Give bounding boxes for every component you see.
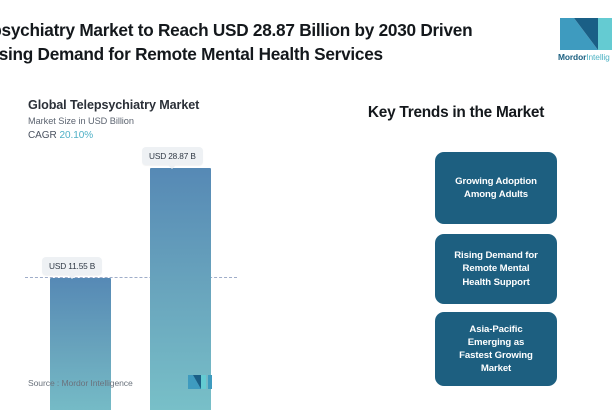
- trend-card-line: Growing Adoption: [455, 175, 537, 188]
- trends-heading: Key Trends in the Market: [326, 104, 586, 122]
- chart-panel: Global Telepsychiatry Market Market Size…: [0, 90, 300, 410]
- trend-card-line: Market: [459, 362, 533, 375]
- trend-card-asia-pacific[interactable]: Asia-Pacific Emerging as Fastest Growing…: [435, 312, 557, 386]
- trend-card-line: Remote Mental: [454, 262, 538, 275]
- page-title-line-2: Rising Demand for Remote Mental Health S…: [0, 42, 542, 66]
- bar-2025: [50, 278, 111, 410]
- mordor-wordmark: MordorIntellig: [558, 52, 610, 62]
- trend-card-line: Health Support: [454, 276, 538, 289]
- trend-card-line: Among Adults: [455, 188, 537, 201]
- trend-card-line: Fastest Growing: [459, 349, 533, 362]
- trend-card-line: Rising Demand for: [454, 249, 538, 262]
- bar-value-label-2030: USD 28.87 B: [142, 147, 203, 165]
- page-title: epsychiatry Market to Reach USD 28.87 Bi…: [0, 18, 542, 67]
- source-note: Source : Mordor Intelligence: [28, 378, 133, 388]
- page-title-line-1: epsychiatry Market to Reach USD 28.87 Bi…: [0, 18, 542, 42]
- mordor-intelligence-logo: MordorIntellig: [558, 12, 615, 66]
- trend-card-line: Emerging as: [459, 336, 533, 349]
- wordmark-light: Intellig: [586, 52, 609, 62]
- trend-card-line: Asia-Pacific: [459, 323, 533, 336]
- bar-value-label-2025: USD 11.55 B: [42, 257, 102, 275]
- trend-card-growing-adoption[interactable]: Growing Adoption Among Adults: [435, 152, 557, 224]
- infographic-page: epsychiatry Market to Reach USD 28.87 Bi…: [0, 0, 615, 410]
- mordor-intelligence-mark-icon: [188, 374, 212, 390]
- trend-card-rising-demand[interactable]: Rising Demand for Remote Mental Health S…: [435, 234, 557, 304]
- mordor-m-mark-icon: [558, 12, 615, 50]
- wordmark-bold: Mordor: [558, 52, 586, 62]
- bar-chart-plot-area: USD 11.55 B USD 28.87 B 2025 2030: [0, 90, 300, 410]
